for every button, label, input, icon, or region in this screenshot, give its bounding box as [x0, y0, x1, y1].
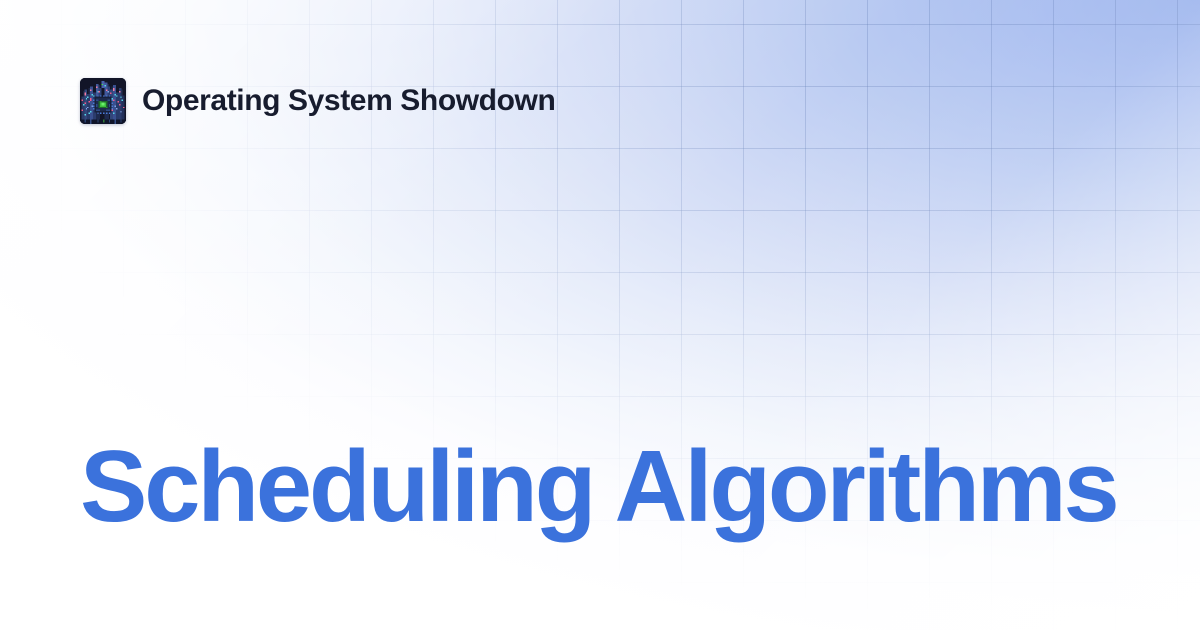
- headline-wrap: Scheduling Algorithms: [80, 434, 1120, 541]
- brand-row: Operating System Showdown: [80, 78, 555, 124]
- brand-title: Operating System Showdown: [142, 86, 555, 116]
- cyberpunk-city-chip-logo-icon: [80, 78, 126, 124]
- og-card: Operating System Showdown Scheduling Alg…: [0, 0, 1200, 630]
- page-title: Scheduling Algorithms: [80, 434, 1120, 541]
